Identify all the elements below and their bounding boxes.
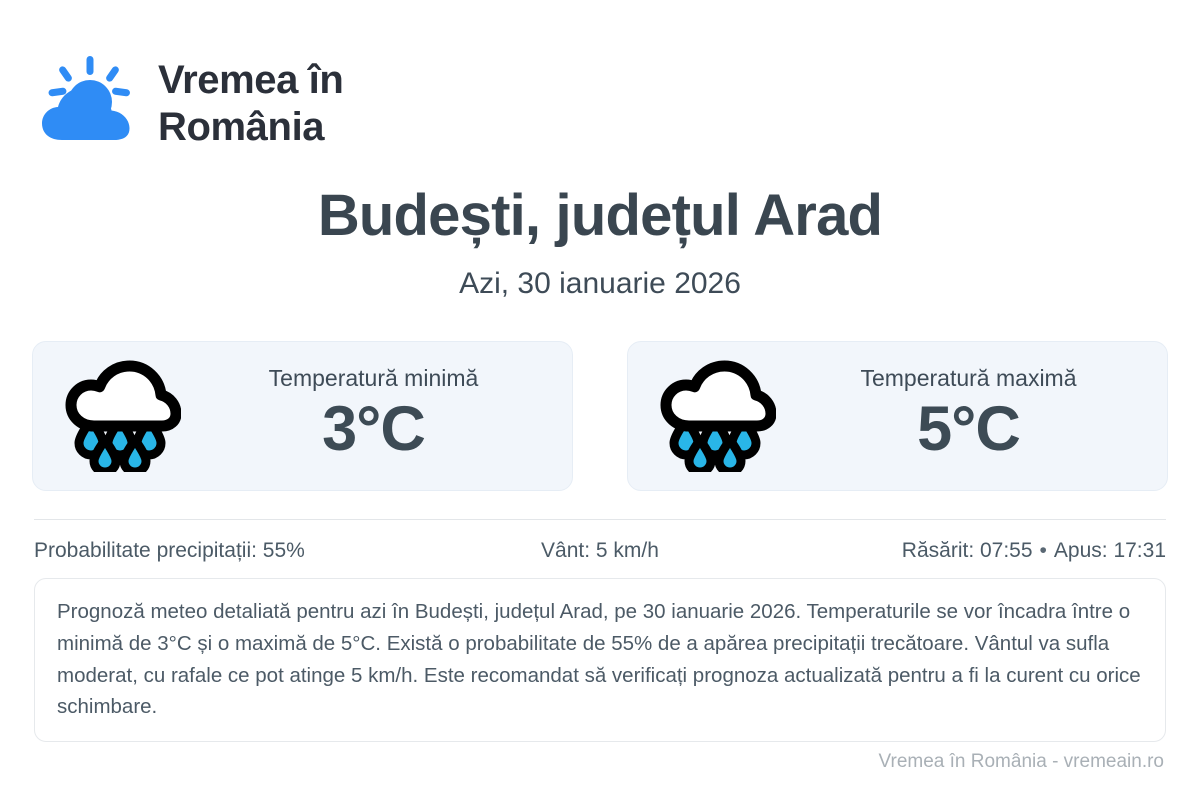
- min-temperature-value: 3°C: [322, 395, 425, 463]
- page-title: Budești, județul Arad: [0, 186, 1200, 247]
- rain-cloud-icon: [63, 360, 181, 472]
- sunset-value: Apus: 17:31: [1054, 539, 1166, 562]
- brand-logo[interactable]: Vremea în România: [36, 52, 343, 156]
- sun-behind-cloud-icon: [36, 52, 140, 156]
- min-temperature-body: Temperatură minimă 3°C: [197, 365, 550, 467]
- sunrise-value: Răsărit: 07:55: [902, 539, 1033, 562]
- max-temperature-label: Temperatură maximă: [860, 365, 1076, 393]
- temperature-cards: Temperatură minimă 3°C Temperatură maxim…: [32, 341, 1168, 491]
- max-temperature-body: Temperatură maximă 5°C: [792, 365, 1145, 467]
- precipitation-stat: Probabilitate precipitații: 55%: [34, 538, 419, 564]
- max-temperature-card: Temperatură maximă 5°C: [627, 341, 1168, 491]
- weather-stats-row: Probabilitate precipitații: 55% Vânt: 5 …: [34, 538, 1166, 564]
- weather-page: Vremea în România Budești, județul Arad …: [0, 0, 1200, 800]
- sun-times-stat: Răsărit: 07:55•Apus: 17:31: [781, 538, 1166, 564]
- bullet-separator-icon: •: [1033, 538, 1054, 564]
- wind-stat: Vânt: 5 km/h: [419, 538, 781, 564]
- brand-name: Vremea în România: [158, 57, 343, 151]
- forecast-description: Prognoză meteo detaliată pentru azi în B…: [34, 578, 1166, 742]
- min-temperature-card: Temperatură minimă 3°C: [32, 341, 573, 491]
- max-temperature-value: 5°C: [917, 395, 1020, 463]
- rain-cloud-icon: [658, 360, 776, 472]
- min-temperature-label: Temperatură minimă: [269, 365, 479, 393]
- footer-credit: Vremea în România - vremeain.ro: [879, 751, 1164, 774]
- section-divider: [34, 519, 1166, 520]
- page-subtitle: Azi, 30 ianuarie 2026: [0, 266, 1200, 302]
